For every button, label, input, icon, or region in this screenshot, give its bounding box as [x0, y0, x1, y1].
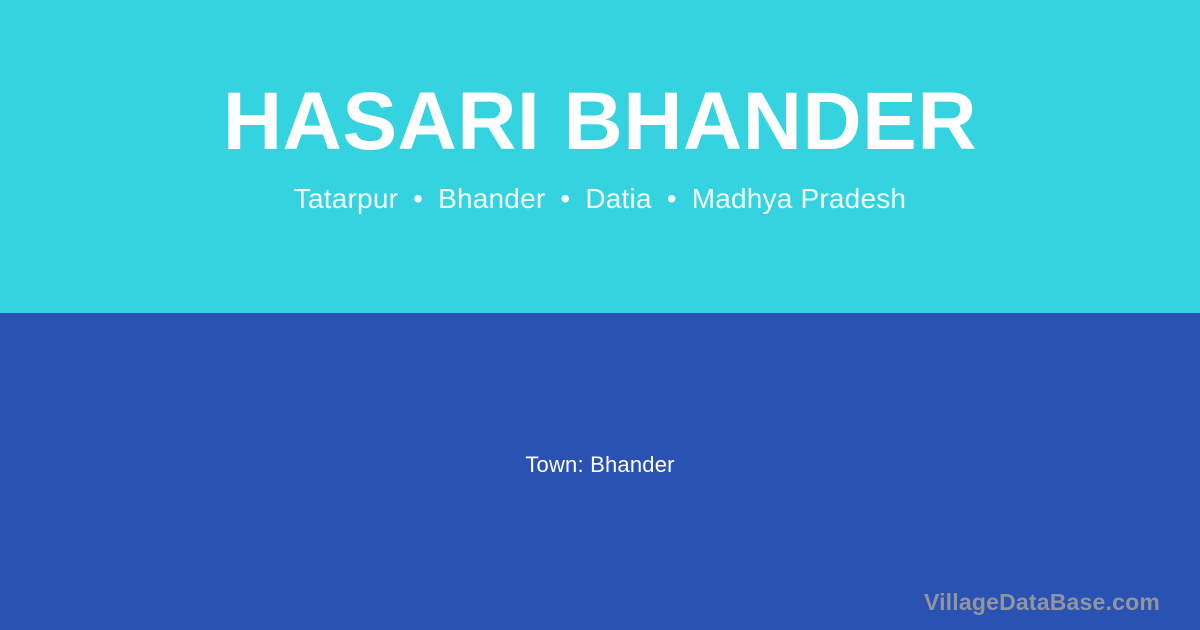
breadcrumb-separator-icon: •: [560, 182, 570, 216]
breadcrumb: Tatarpur • Bhander • Datia • Madhya Prad…: [294, 182, 906, 216]
page-title: HASARI BHANDER: [223, 78, 977, 166]
site-watermark: VillageDataBase.com: [924, 588, 1160, 616]
breadcrumb-item-village: Tatarpur: [294, 183, 398, 214]
breadcrumb-separator-icon: •: [667, 182, 677, 216]
breadcrumb-separator-icon: •: [413, 182, 423, 216]
breadcrumb-item-district: Datia: [585, 183, 651, 214]
town-detail-line: Town: Bhander: [525, 451, 674, 479]
village-info-banner: HASARI BHANDER Tatarpur • Bhander • Dati…: [0, 0, 1200, 630]
body-section: Town: Bhander: [0, 313, 1200, 630]
header-section: HASARI BHANDER Tatarpur • Bhander • Dati…: [0, 0, 1200, 313]
breadcrumb-item-block: Bhander: [438, 183, 545, 214]
breadcrumb-item-state: Madhya Pradesh: [692, 183, 906, 214]
